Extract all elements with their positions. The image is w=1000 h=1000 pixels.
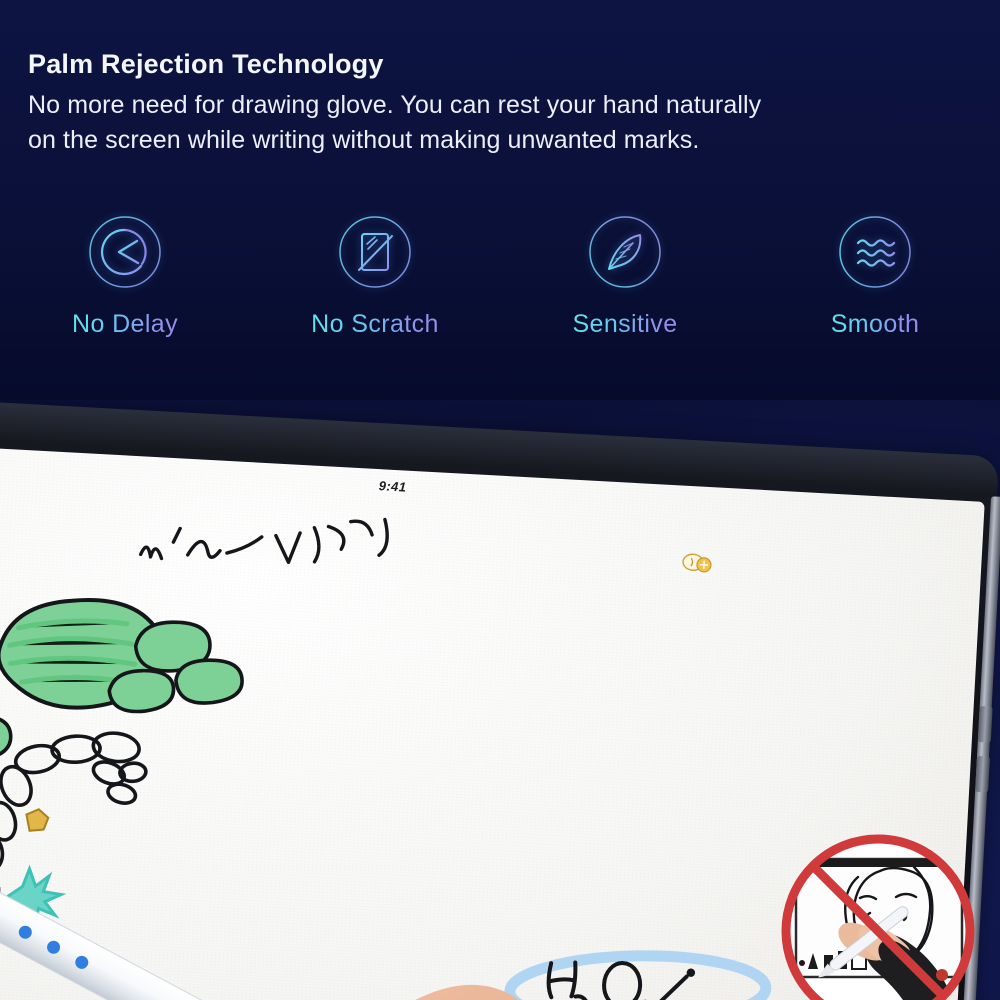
clock-icon [85,212,165,292]
feather-icon [585,212,665,292]
product-feature-graphic: Palm Rejection Technology No more need f… [0,0,1000,1000]
subtitle-line-1: No more need for drawing glove. You can … [28,88,761,123]
no-gloves-inset [784,837,972,1000]
feature-item-smooth: Smooth [750,212,1000,372]
feature-item-no-scratch: No Scratch [250,212,500,372]
prohibition-sign-icon [778,831,978,1000]
feature-label: Smooth [831,310,920,339]
tablet-no-scratch-icon [335,212,415,292]
volume-button[interactable] [978,706,993,743]
feature-list: No Delay [0,212,1000,372]
subtitle-line-2: on the screen while writing without maki… [28,123,761,158]
volume-button[interactable] [975,756,990,793]
page-title: Palm Rejection Technology [28,49,384,80]
feature-label: No Delay [72,310,178,339]
feature-item-no-delay: No Delay [0,212,250,372]
feature-label: Sensitive [572,310,677,339]
page-subtitle: No more need for drawing glove. You can … [28,88,761,157]
feature-item-sensitive: Sensitive [500,212,750,372]
top-info-panel: Palm Rejection Technology No more need f… [0,0,1000,400]
wavy-lines-icon [835,212,915,292]
product-photo-section: 9:41 [0,400,1000,1000]
feature-label: No Scratch [311,310,439,339]
